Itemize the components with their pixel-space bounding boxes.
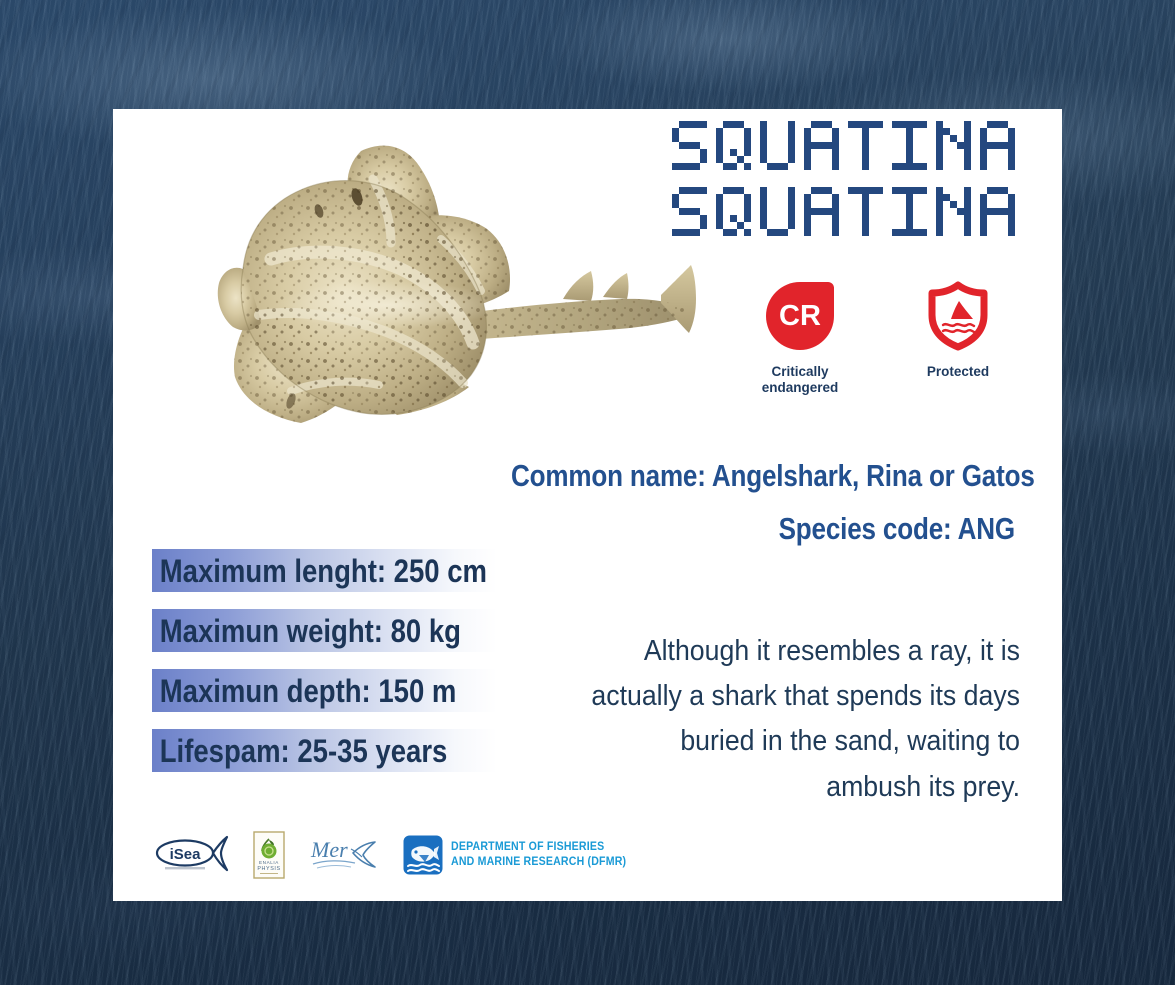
iucn-critically-endangered-drop-icon: CR	[744, 279, 856, 353]
title-glyph	[848, 187, 883, 236]
title-glyph	[716, 121, 751, 170]
isea-logo: iSea	[153, 832, 231, 878]
stat-label-max-weight: Maximun weight: 80 kg	[152, 615, 461, 647]
stat-label-max-depth: Maximun depth: 150 m	[152, 675, 456, 707]
dfmr-logo-text: DEPARTMENT OF FISHERIES AND MARINE RESEA…	[451, 840, 626, 869]
species-code: Species code: ANG	[511, 502, 1015, 555]
title-glyph	[980, 187, 1015, 236]
title-glyph	[804, 121, 839, 170]
dfmr-logo: DEPARTMENT OF FISHERIES AND MARINE RESEA…	[403, 835, 641, 875]
protected-shield-shark-fin-icon	[902, 279, 1014, 353]
species-fact-card: CR Critically endangered Protected	[113, 109, 1062, 901]
enalia-physis-logo: ENALIA PHYSIS	[253, 831, 285, 879]
title-glyph	[892, 187, 927, 236]
enalia-physis-line1: ENALIA	[259, 860, 279, 865]
stat-row-lifespan: Lifespam: 25-35 years	[152, 729, 497, 772]
title-glyph	[672, 121, 707, 170]
status-badge-protected: Protected	[902, 279, 1014, 380]
enalia-physis-line2: PHYSIS	[257, 866, 280, 872]
mer-logo: Mer	[307, 833, 381, 877]
stat-row-max-length: Maximum lenght: 250 cm	[152, 549, 497, 592]
title-glyph	[760, 121, 795, 170]
isea-logo-text: iSea	[170, 846, 202, 863]
title-glyph	[804, 187, 839, 236]
mer-logo-text: Mer	[310, 837, 348, 862]
stat-label-lifespan: Lifespam: 25-35 years	[152, 735, 447, 767]
stat-row-max-weight: Maximun weight: 80 kg	[152, 609, 497, 652]
partner-logos: iSea ENALIA PHYSIS	[153, 827, 641, 883]
badge-caption-protected: Protected	[902, 364, 1014, 380]
common-name: Common name: Angelshark, Rina or Gatos	[511, 449, 1015, 502]
title-glyph	[672, 187, 707, 236]
title-glyph	[892, 121, 927, 170]
stat-label-max-length: Maximum lenght: 250 cm	[152, 555, 487, 587]
title-line-1	[672, 121, 1015, 170]
title-glyph	[848, 121, 883, 170]
status-badge-critically-endangered: CR Critically endangered	[744, 279, 856, 397]
title-glyph	[936, 121, 971, 170]
title-line-2	[672, 187, 1015, 236]
poster-background: CR Critically endangered Protected	[0, 0, 1175, 985]
species-names: Common name: Angelshark, Rina or Gatos S…	[511, 449, 1015, 556]
title-glyph	[936, 187, 971, 236]
dfmr-text-line-1: DEPARTMENT OF FISHERIES	[451, 840, 626, 855]
stat-row-max-depth: Maximun depth: 150 m	[152, 669, 497, 712]
species-description: Although it resembles a ray, it is actua…	[588, 629, 1020, 810]
cr-abbreviation: CR	[779, 302, 821, 331]
badge-caption-critically-endangered: Critically endangered	[744, 364, 856, 397]
angelshark-illustration	[151, 119, 746, 439]
title-glyph	[980, 121, 1015, 170]
status-badges: CR Critically endangered Protected	[744, 279, 1014, 397]
title-glyph	[760, 187, 795, 236]
species-stats-list: Maximum lenght: 250 cm Maximun weight: 8…	[152, 549, 497, 772]
dfmr-text-line-2: AND MARINE RESEARCH (DFMR)	[451, 855, 626, 870]
page-title	[672, 121, 1015, 253]
title-glyph	[716, 187, 751, 236]
